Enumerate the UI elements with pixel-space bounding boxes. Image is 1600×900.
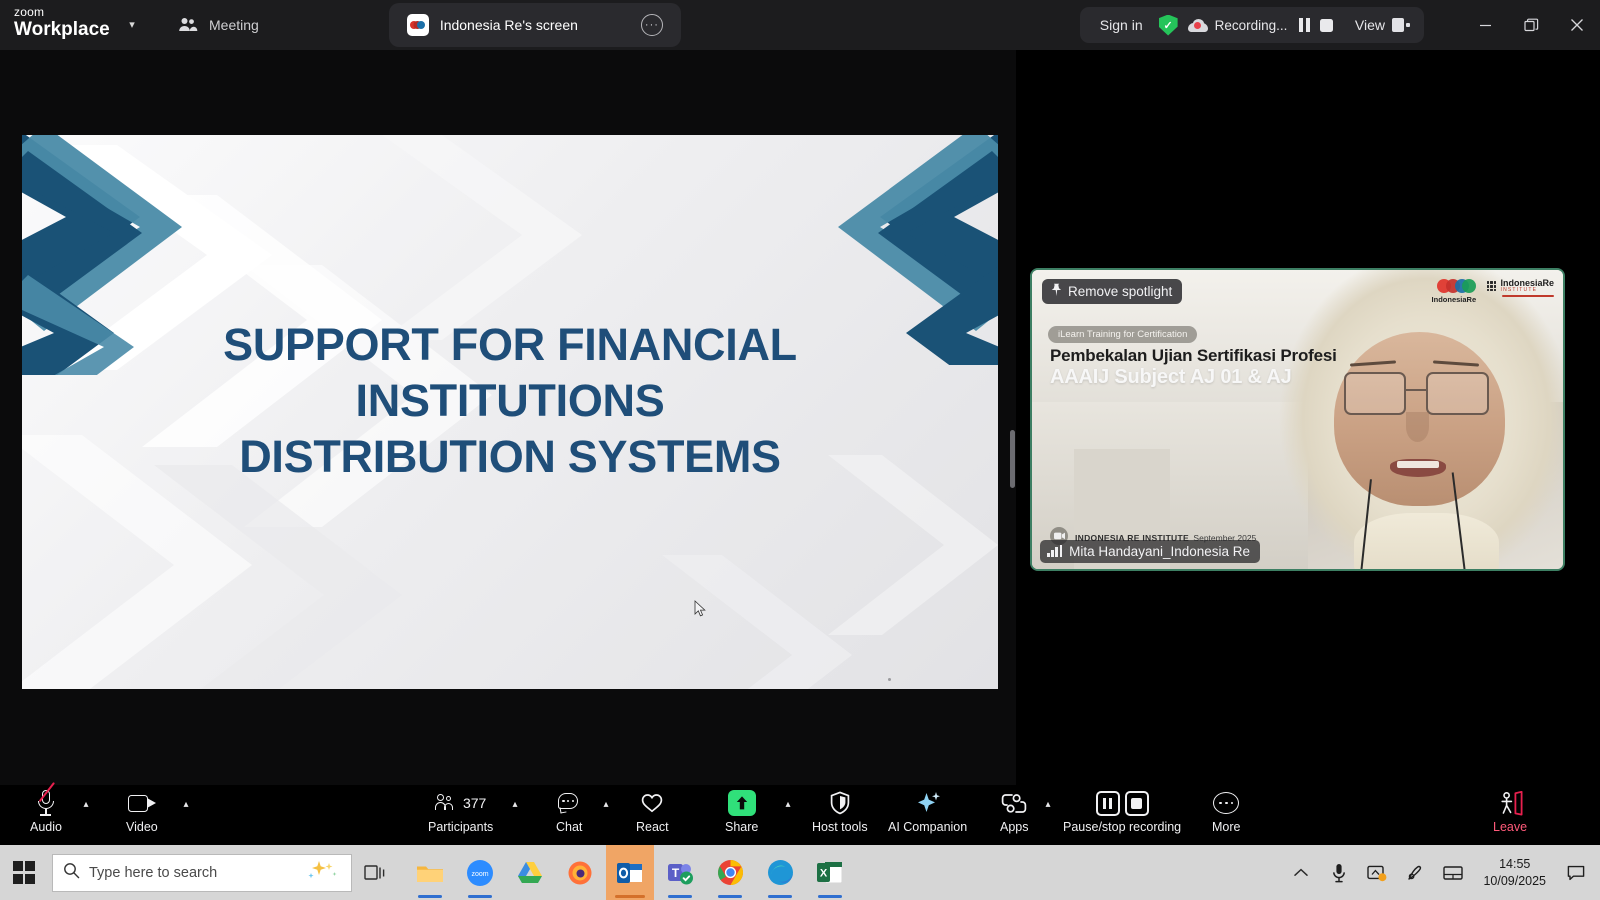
microphone-icon[interactable]: [1321, 845, 1357, 900]
zoom-workplace-logo: zoom Workplace: [14, 6, 124, 39]
toolbar-label-react: React: [636, 820, 669, 834]
toolbar-button-audio[interactable]: Audio: [30, 789, 62, 834]
clock-time: 14:55: [1499, 856, 1530, 872]
shared-screen-stage: SUPPORT FOR FINANCIAL INSTITUTIONS DISTR…: [0, 50, 1016, 785]
signal-bars-icon: [1047, 546, 1062, 557]
toolbar-button-share[interactable]: Share: [725, 789, 758, 834]
indonesia-re-logo-icon: [407, 14, 429, 36]
chrome-icon[interactable]: [706, 845, 754, 900]
toolbar-button-leave[interactable]: Leave: [1493, 789, 1527, 834]
search-input[interactable]: Type here to search: [52, 854, 352, 892]
toolbar-label-apps: Apps: [1000, 820, 1029, 834]
show-hidden-icons-chevron[interactable]: [1283, 845, 1319, 900]
remove-spotlight-button[interactable]: Remove spotlight: [1042, 279, 1182, 304]
people-icon: [178, 17, 198, 33]
search-icon: [63, 862, 80, 884]
video-options-caret-icon[interactable]: ▴: [179, 799, 193, 810]
pause-recording-icon[interactable]: [1096, 791, 1120, 816]
microsoft-teams-icon[interactable]: T: [656, 845, 704, 900]
close-button[interactable]: [1554, 0, 1600, 50]
toolbar-button-react[interactable]: React: [636, 789, 669, 834]
zoom-meeting-window: zoom Workplace ▾ Meeting: [0, 0, 1600, 900]
slide-title-line-3: DISTRIBUTION SYSTEMS: [22, 429, 998, 485]
chevron-down-icon[interactable]: ▾: [124, 18, 140, 32]
toolbar-button-chat[interactable]: Chat: [556, 789, 582, 834]
clock-date: 10/09/2025: [1483, 873, 1546, 889]
toolbar-button-host-tools[interactable]: Host tools: [812, 789, 868, 834]
logo-workplace-text: Workplace: [14, 20, 124, 39]
search-placeholder: Type here to search: [89, 865, 296, 881]
window-controls: [1462, 0, 1600, 50]
toolbar-label-chat: Chat: [556, 820, 582, 834]
stop-recording-icon[interactable]: [1125, 791, 1149, 816]
windows-start-icon[interactable]: [0, 845, 48, 900]
slide-heading-secondary: AAAIJ Subject AJ 01 & AJ: [1050, 366, 1292, 389]
windows-taskbar: Type here to search: [0, 845, 1600, 900]
tab-indonesia-re-screen-label: Indonesia Re's screen: [440, 17, 578, 33]
toolbar-label-video: Video: [126, 820, 158, 834]
titlebar-right-controls: Sign in ✓ Recording... View: [1080, 7, 1424, 43]
toolbar-label-host-tools: Host tools: [812, 820, 868, 834]
video-brand-logos: IndonesiaRe IndonesiaRe INSTITUTE: [1437, 279, 1554, 294]
file-explorer-icon[interactable]: [406, 845, 454, 900]
toolbar-button-ai-companion[interactable]: AI Companion: [888, 789, 967, 834]
screenshot-icon[interactable]: [1359, 845, 1395, 900]
leave-meeting-icon: [1497, 789, 1523, 817]
mouse-cursor: [694, 600, 706, 618]
toolbar-button-pause-stop-recording[interactable]: Pause/stop recording: [1063, 789, 1181, 834]
slide-title-line-2: INSTITUTIONS: [22, 373, 998, 429]
tab-meeting[interactable]: Meeting: [160, 3, 277, 47]
recording-status[interactable]: Recording...: [1188, 18, 1288, 33]
toolbar-label-pause-stop-recording: Pause/stop recording: [1063, 820, 1181, 834]
slide-dot-mark: [888, 678, 891, 681]
slide-title-line-1: SUPPORT FOR FINANCIAL: [22, 317, 998, 373]
video-camera-icon: [128, 789, 156, 817]
edge-icon[interactable]: [756, 845, 804, 900]
meeting-toolbar: Audio ▴ Video ▴ 377 Participants ▴ Chat: [0, 785, 1600, 845]
logo-zoom-text: zoom: [14, 6, 124, 18]
taskbar-clock[interactable]: 14:55 10/09/2025: [1473, 856, 1556, 889]
indonesia-re-brand-text: IndonesiaRe: [1432, 295, 1477, 304]
pin-icon: [1050, 283, 1062, 300]
taskbar-app-buttons: zoom: [406, 845, 854, 900]
toolbar-label-ai-companion: AI Companion: [888, 820, 967, 834]
participant-name-badge: Mita Handayani_Indonesia Re: [1040, 540, 1260, 563]
pen-icon[interactable]: [1397, 845, 1433, 900]
view-label: View: [1355, 17, 1385, 33]
pause-stop-recording-icon: [1096, 789, 1149, 817]
window-tabs: Meeting Indonesia Re's screen ···: [160, 3, 681, 47]
title-bar: zoom Workplace ▾ Meeting: [0, 0, 1600, 50]
excel-icon[interactable]: X: [806, 845, 854, 900]
participants-count: 377: [463, 795, 486, 811]
toolbar-label-audio: Audio: [30, 820, 62, 834]
task-view-icon[interactable]: [352, 845, 398, 900]
sparkle-icon: [916, 789, 940, 817]
copilot-sparkle-icon[interactable]: [305, 859, 341, 886]
slide-title: SUPPORT FOR FINANCIAL INSTITUTIONS DISTR…: [22, 317, 998, 484]
tab-indonesia-re-screen[interactable]: Indonesia Re's screen ···: [389, 3, 681, 47]
shield-check-icon[interactable]: ✓: [1159, 15, 1178, 36]
shield-icon: [830, 789, 850, 817]
toolbar-label-share: Share: [725, 820, 758, 834]
stage-scrollbar[interactable]: [1010, 430, 1015, 488]
slide-heading-primary: Pembekalan Ujian Sertifikasi Profesi: [1050, 346, 1337, 366]
heart-icon: [641, 789, 663, 817]
audio-options-caret-icon[interactable]: ▴: [79, 799, 93, 810]
toolbar-button-participants[interactable]: 377 Participants: [428, 789, 493, 834]
tab-more-options-icon[interactable]: ···: [641, 14, 663, 36]
microphone-muted-icon: [37, 789, 54, 817]
participant-video-tile[interactable]: IndonesiaRe IndonesiaRe INSTITUTE iLearn…: [1030, 268, 1565, 571]
apps-icon: [1001, 789, 1027, 817]
layout-icon: [1392, 18, 1410, 32]
chat-options-caret-icon[interactable]: ▴: [599, 799, 613, 810]
more-dots-icon: [1213, 789, 1239, 817]
tab-meeting-label: Meeting: [209, 17, 259, 33]
google-drive-icon[interactable]: [506, 845, 554, 900]
share-options-caret-icon[interactable]: ▴: [781, 799, 795, 810]
toolbar-label-leave: Leave: [1493, 820, 1527, 834]
view-button[interactable]: View: [1355, 17, 1410, 33]
presentation-slide: SUPPORT FOR FINANCIAL INSTITUTIONS DISTR…: [22, 135, 998, 689]
system-tray: 14:55 10/09/2025: [1283, 845, 1600, 900]
toolbar-button-video[interactable]: Video: [126, 789, 158, 834]
toolbar-button-apps[interactable]: Apps: [1000, 789, 1029, 834]
sign-in-button[interactable]: Sign in: [1094, 17, 1149, 33]
monitor-icon[interactable]: [1435, 845, 1471, 900]
participant-name-label: Mita Handayani_Indonesia Re: [1069, 544, 1250, 559]
participant-webcam-image: [1255, 268, 1565, 571]
outlook-icon[interactable]: [606, 845, 654, 900]
participants-options-caret-icon[interactable]: ▴: [508, 799, 522, 810]
participants-icon: 377: [435, 789, 486, 817]
share-screen-icon: [728, 789, 756, 817]
toolbar-button-more[interactable]: More: [1212, 789, 1240, 834]
svg-text:X: X: [820, 868, 828, 880]
notification-icon[interactable]: [1558, 845, 1594, 900]
svg-text:zoom: zoom: [471, 871, 488, 878]
toolbar-label-participants: Participants: [428, 820, 493, 834]
pause-icon[interactable]: [1299, 18, 1310, 32]
toolbar-label-more: More: [1212, 820, 1240, 834]
zoom-icon[interactable]: zoom: [456, 845, 504, 900]
indonesia-re-logo-icon: IndonesiaRe: [1437, 279, 1471, 293]
svg-text:T: T: [672, 866, 680, 880]
remove-spotlight-label: Remove spotlight: [1068, 284, 1172, 299]
recording-label: Recording...: [1215, 18, 1288, 33]
stop-icon[interactable]: [1320, 19, 1333, 32]
maximize-button[interactable]: [1508, 0, 1554, 50]
indonesia-re-institute-logo-icon: IndonesiaRe INSTITUTE: [1487, 279, 1554, 294]
slide-badge-ilearn: iLearn Training for Certification: [1048, 326, 1197, 343]
minimize-button[interactable]: [1462, 0, 1508, 50]
firefox-icon[interactable]: [556, 845, 604, 900]
video-panel: IndonesiaRe IndonesiaRe INSTITUTE iLearn…: [1016, 50, 1600, 785]
institute-brand-sub: INSTITUTE: [1500, 288, 1554, 293]
apps-options-caret-icon[interactable]: ▴: [1041, 799, 1055, 810]
cloud-recording-icon: [1188, 19, 1208, 32]
chat-bubble-icon: [558, 789, 580, 817]
